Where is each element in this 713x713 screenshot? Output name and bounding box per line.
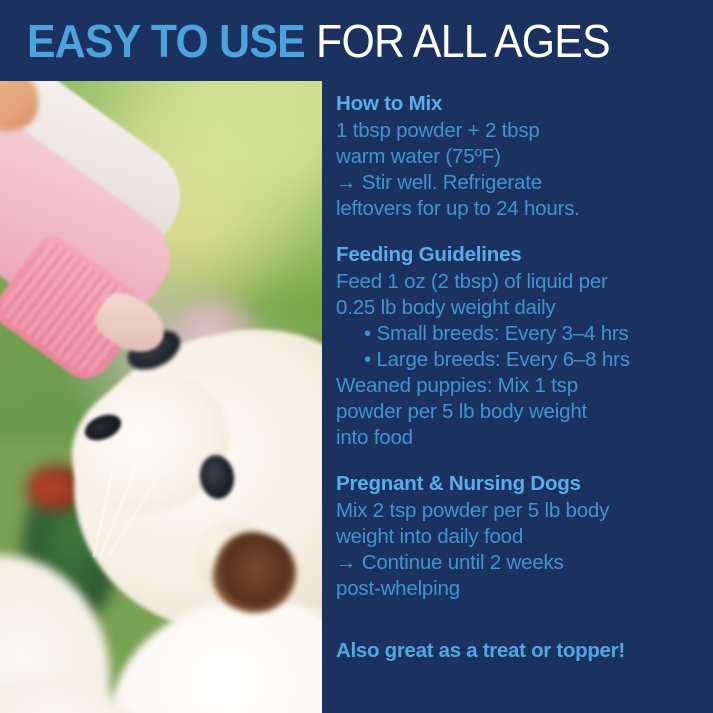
section-pregnant-nursing-dogs: Pregnant & Nursing Dogs Mix 2 tsp powder… [336,471,700,602]
infographic-panel: EASY TO USE FOR ALL AGES How to Mix 1 tb… [0,0,713,713]
section-title: How to Mix [336,91,700,117]
puppy-body [110,601,322,713]
section-line: → Continue until 2 weeks [336,550,700,576]
section-line: warm water (75ºF) [336,144,700,170]
section-line: Feed 1 oz (2 tbsp) of liquid per [336,269,700,295]
headline-plain-text: FOR ALL AGES [305,15,610,67]
section-line: weight into daily food [336,524,700,550]
section-how-to-mix: How to Mix 1 tbsp powder + 2 tbsp warm w… [336,91,700,222]
header-band: EASY TO USE FOR ALL AGES [0,0,713,81]
tagline: Also great as a treat or topper! [336,638,625,664]
section-line: powder per 5 lb body weight [336,399,700,425]
section-bullet-line: • Large breeds: Every 6–8 hrs [336,347,700,373]
section-title: Pregnant & Nursing Dogs [336,471,700,497]
section-line: leftovers for up to 24 hours. [336,196,700,222]
section-title: Feeding Guidelines [336,242,700,268]
section-line: Weaned puppies: Mix 1 tsp [336,373,700,399]
section-line: 1 tbsp powder + 2 tbsp [336,118,700,144]
page-title: EASY TO USE FOR ALL AGES [27,18,610,64]
section-line: → Stir well. Refrigerate [336,170,700,196]
section-line: into food [336,425,700,451]
section-bullet-line: • Small breeds: Every 3–4 hrs [336,321,700,347]
puppy-whiskers [30,467,180,557]
puppy-bottle-feeding-photo [0,81,322,713]
section-line: post-whelping [336,576,700,602]
section-line: Mix 2 tsp powder per 5 lb body [336,498,700,524]
section-line: 0.25 lb body weight daily [336,295,700,321]
instructions-column: How to Mix 1 tbsp powder + 2 tbsp warm w… [322,81,713,713]
section-feeding-guidelines: Feeding Guidelines Feed 1 oz (2 tbsp) of… [336,242,700,451]
headline-accent-text: EASY TO USE [27,15,305,67]
